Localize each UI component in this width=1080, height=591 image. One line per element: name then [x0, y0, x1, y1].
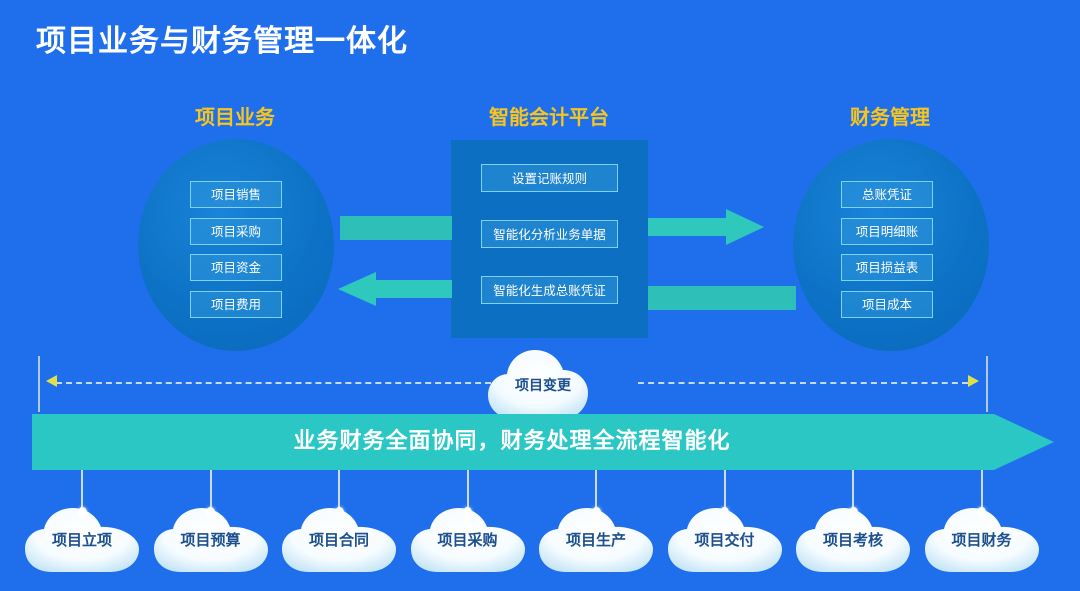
left-item-0[interactable]: 项目销售: [190, 181, 282, 208]
center-item-0[interactable]: 设置记账规则: [481, 164, 618, 192]
stage-cloud-label: 项目生产: [536, 529, 656, 550]
right-item-0[interactable]: 总账凭证: [841, 181, 933, 208]
right-item-3[interactable]: 项目成本: [841, 291, 933, 318]
stage-connector-dot-5: [720, 507, 729, 518]
left-item-3[interactable]: 项目费用: [190, 291, 282, 318]
stage-connector-dot-0: [78, 507, 87, 518]
right-item-2[interactable]: 项目损益表: [841, 254, 933, 281]
bracket-post-left: [38, 356, 40, 412]
stage-cloud-label: 项目合同: [279, 529, 399, 550]
stage-connector-dot-7: [977, 507, 986, 518]
left-item-2[interactable]: 项目资金: [190, 254, 282, 281]
stage-connector-dot-4: [592, 507, 601, 518]
flow-arrow-left-to-center-icon: [340, 216, 452, 240]
stage-connector-dot-6: [849, 507, 858, 518]
stage-cloud-label: 项目考核: [793, 529, 913, 550]
stage-cloud-label: 项目交付: [665, 529, 785, 550]
section-title-right: 财务管理: [815, 101, 965, 130]
bracket-post-right: [986, 356, 988, 412]
center-item-1[interactable]: 智能化分析业务单据: [481, 220, 618, 248]
stage-cloud-label: 项目预算: [151, 529, 271, 550]
stage-connector-dot-2: [335, 507, 344, 518]
stage-cloud-label: 项目采购: [408, 529, 528, 550]
section-title-center: 智能会计平台: [450, 101, 648, 130]
dashed-line-right: [638, 382, 968, 384]
stage-connector-dot-3: [463, 507, 472, 518]
flow-arrow-center-to-left-icon: [338, 272, 452, 306]
dashed-line-left: [56, 382, 511, 384]
flow-arrow-right-to-center-icon: [648, 286, 796, 310]
right-item-1[interactable]: 项目明细账: [841, 218, 933, 245]
stage-cloud-label: 项目财务: [922, 529, 1042, 550]
arrowhead-right-icon: [968, 375, 979, 387]
left-item-1[interactable]: 项目采购: [190, 218, 282, 245]
synergy-banner-label: 业务财务全面协同，财务处理全流程智能化: [32, 414, 992, 470]
right-finance-circle: [793, 139, 989, 351]
left-business-circle: [138, 139, 334, 351]
change-cloud: 项目变更: [484, 345, 602, 423]
stage-cloud-label: 项目立项: [22, 529, 142, 550]
page-title: 项目业务与财务管理一体化: [36, 16, 408, 60]
section-title-left: 项目业务: [160, 101, 310, 130]
arrowhead-left-icon: [46, 375, 57, 387]
stage-connector-dot-1: [206, 507, 215, 518]
change-cloud-label: 项目变更: [484, 375, 602, 395]
center-item-2[interactable]: 智能化生成总账凭证: [481, 276, 618, 304]
infographic-canvas: 项目业务与财务管理一体化 项目业务 项目销售 项目采购 项目资金 项目费用 智能…: [0, 0, 1080, 591]
flow-arrow-center-to-right-icon: [648, 209, 764, 245]
